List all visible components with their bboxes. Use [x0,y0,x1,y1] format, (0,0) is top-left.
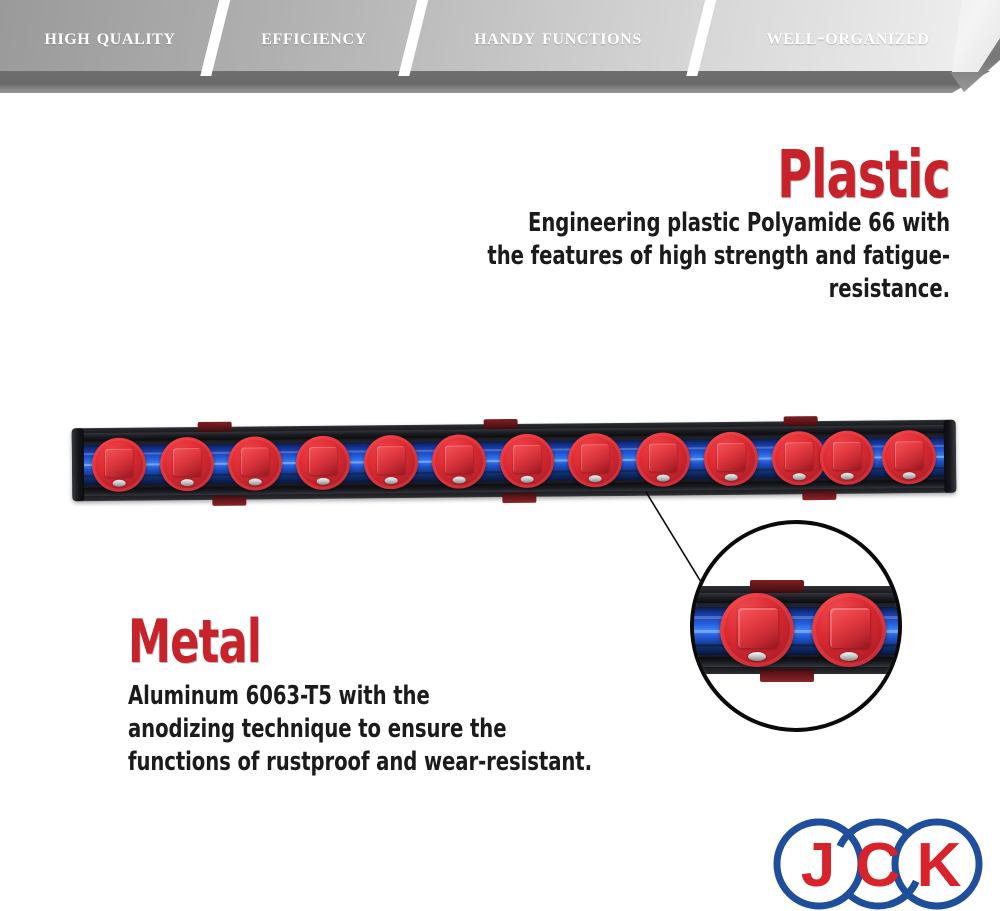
socket-drive-tab [738,608,778,648]
socket-clip [820,430,875,485]
rail-mount-tab [198,422,232,432]
magnified-detail-view [690,520,902,732]
plastic-description-line-1: Engineering plastic Polyamide 66 with [396,207,950,240]
rail-end-cap-right [944,420,957,493]
socket-clip [364,434,419,489]
metal-heading: Metal [128,612,576,672]
metal-feature-block: Metal Aluminum 6063-T5 with the anodizin… [128,612,688,779]
rail-mount-tab [212,496,246,506]
socket-ball-detent [841,472,854,479]
socket-drive-tab [581,444,609,472]
magnifier-circle [690,520,902,732]
socket-ball-detent [385,477,398,484]
socket-clip [92,437,147,492]
feature-banner: High Quality Efficiency Handy Functions … [0,0,1000,95]
socket-clip [704,431,759,486]
socket-ball-detent [453,476,466,483]
logo-letter-j: J [801,831,835,900]
socket-ball-detent [589,475,602,482]
rail-mount-tab [802,490,836,500]
socket-drive-tab [173,448,201,476]
magnified-socket-clip [720,593,794,667]
socket-ball-detent [317,477,330,484]
socket-ball-detent [113,479,126,486]
socket-drive-tab [377,446,405,474]
banner-segment-handy-functions: Handy Functions [424,0,692,73]
socket-drive-tab [105,448,133,476]
socket-clip [568,432,623,487]
socket-drive-tab [445,445,473,473]
metal-description: Aluminum 6063-T5 with the anodizing tech… [128,680,598,779]
rail-mount-tab [484,419,518,429]
socket-clip [296,435,351,490]
magnified-mount-tab [760,669,814,682]
rail-mount-tab [502,493,536,503]
logo-letter-c: C [856,831,901,900]
socket-clip [160,436,215,491]
socket-clip [636,432,691,487]
socket-clip [432,434,487,489]
banner-segment-label: High Quality [44,24,175,50]
banner-segment-well-organized: Well-Organized [712,0,984,73]
socket-ball-detent [793,473,806,480]
banner-bottom-edge [0,71,1000,95]
socket-ball-detent [840,652,858,661]
socket-drive-tab [649,443,677,471]
socket-drive-tab [895,441,923,469]
metal-description-line-2: anodizing technique to ensure the [128,713,598,746]
socket-drive-tab [309,446,337,474]
socket-drive-tab [785,442,813,470]
socket-clip [882,429,937,484]
magnified-mount-tab [750,580,804,593]
socket-ball-detent [521,475,534,482]
banner-segment-label: Well-Organized [767,24,930,50]
socket-ball-detent [249,478,262,485]
socket-ball-detent [903,472,916,479]
banner-segment-high-quality: High Quality [6,0,214,73]
socket-ball-detent [748,652,766,661]
plastic-feature-block: Plastic Engineering plastic Polyamide 66… [290,143,950,306]
magnified-rail [690,586,902,674]
plastic-heading: Plastic [422,143,950,207]
rail-mount-tab [784,416,818,426]
banner-segment-label: Efficiency [261,24,367,50]
socket-drive-tab [241,447,269,475]
socket-clip [500,433,555,488]
plastic-description-line-2: the features of high strength and fatigu… [396,240,950,306]
socket-drive-tab [830,608,870,648]
socket-clip [228,436,283,491]
banner-segment-label: Handy Functions [474,24,642,50]
plastic-description: Engineering plastic Polyamide 66 with th… [396,207,950,306]
socket-clip [772,431,827,486]
socket-drive-tab [717,442,745,470]
socket-drive-tab [513,444,541,472]
rail-end-cap-left [72,428,85,501]
socket-ball-detent [181,479,194,486]
socket-organizer-rail [72,420,957,501]
metal-description-line-1: Aluminum 6063-T5 with the [128,680,598,713]
banner-segment-efficiency: Efficiency [228,0,400,73]
magnified-socket-clip [812,593,886,667]
logo-letter-k: K [917,831,962,900]
metal-description-line-3: functions of rustproof and wear-resistan… [128,746,598,779]
socket-drive-tab [833,441,861,469]
jck-brand-logo: J C K [772,818,984,911]
